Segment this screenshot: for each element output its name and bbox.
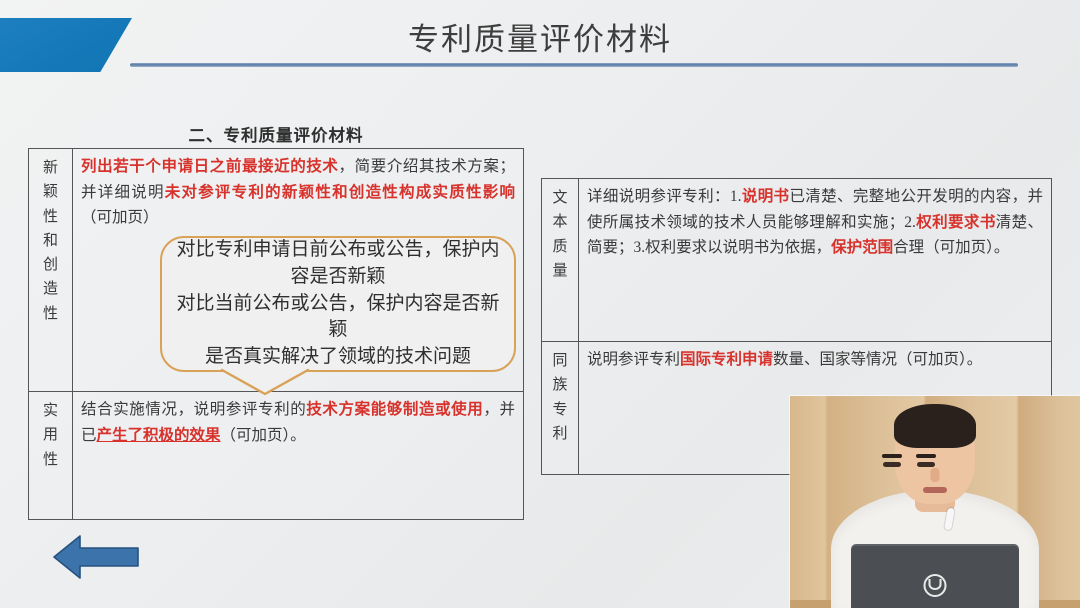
presenter-eye-right <box>917 462 935 467</box>
presenter-eyebrow-right <box>916 454 936 458</box>
label-char: 性 <box>43 448 58 472</box>
label-char: 质 <box>552 235 567 259</box>
label-char: 用 <box>43 423 58 447</box>
row-label-utility: 实 用 性 <box>29 392 73 519</box>
row-label-text-quality: 文 本 质 量 <box>542 179 579 341</box>
slide: 专利质量评价材料 二、专利质量评价材料 新 颖 性 和 创 造 性 列出若干个申… <box>0 0 1080 608</box>
text-segment: 合理（可加页）。 <box>893 239 1009 256</box>
presenter-figure <box>820 458 1050 608</box>
presenter-hair <box>894 404 976 448</box>
callout-line: 是否真实解决了领域的技术问题 <box>173 344 503 371</box>
presenter-video-overlay[interactable] <box>790 396 1080 608</box>
presenter-eye-left <box>883 462 901 467</box>
text-segment: 结合实施情况，说明参评专利的 <box>81 401 306 418</box>
presenter-mouth <box>923 487 947 493</box>
label-char: 造 <box>43 277 58 301</box>
label-char: 专 <box>552 398 567 422</box>
label-char: 性 <box>43 205 58 229</box>
header-divider-line <box>130 63 1018 67</box>
label-char: 性 <box>43 302 58 326</box>
label-char: 文 <box>552 186 567 210</box>
text-segment-highlight: 说明书 <box>741 188 789 205</box>
text-segment: （可加页）。 <box>221 427 306 444</box>
label-char: 和 <box>43 229 58 253</box>
laptop-logo-icon <box>924 574 947 597</box>
text-segment-highlight: 列出若干个申请日之前最接近的技术 <box>81 158 339 175</box>
text-segment: 说明参评专利 <box>587 351 680 368</box>
label-char: 族 <box>552 373 567 397</box>
label-char: 同 <box>552 349 567 373</box>
text-segment-highlight-underline: 产生了积极的效果 <box>97 427 221 444</box>
row-content-text-quality: 详细说明参评专利：1.说明书已清楚、完整地公开发明的内容，并使所属技术领域的技术… <box>579 179 1051 341</box>
row-label-novelty-inventiveness: 新 颖 性 和 创 造 性 <box>29 149 73 391</box>
left-arrow-icon <box>52 532 140 582</box>
row-label-patent-family: 同 族 专 利 <box>542 342 579 474</box>
table-row: 文 本 质 量 详细说明参评专利：1.说明书已清楚、完整地公开发明的内容，并使所… <box>542 179 1051 341</box>
text-segment: 数量、国家等情况（可加页）。 <box>773 351 982 368</box>
presenter-eyebrow-left <box>882 454 902 458</box>
text-segment-highlight: 技术方案能够制造或使用 <box>306 401 483 418</box>
row-content-utility: 结合实施情况，说明参评专利的技术方案能够制造或使用，并已产生了积极的效果（可加页… <box>73 392 523 519</box>
laptop <box>851 544 1019 608</box>
text-segment-highlight: 权利要求书 <box>916 214 996 231</box>
table-row: 实 用 性 结合实施情况，说明参评专利的技术方案能够制造或使用，并已产生了积极的… <box>29 391 523 519</box>
text-segment-highlight: 保护范围 <box>831 239 893 256</box>
label-char: 量 <box>552 259 567 283</box>
callout-line: 对比专利申请日前公布或公告，保护内容是否新颖 <box>173 237 503 291</box>
callout-line: 对比当前公布或公告，保护内容是否新颖 <box>173 291 503 345</box>
text-segment: （可加页） <box>81 209 159 226</box>
text-segment-highlight: 国际专利申请 <box>680 351 773 368</box>
text-segment-highlight: 未对参评专利的新颖性和创造性构成实质性影响 <box>165 184 515 201</box>
text-segment: 详细说明参评专利：1. <box>587 188 741 205</box>
section-title: 二、专利质量评价材料 <box>28 122 524 146</box>
label-char: 创 <box>43 253 58 277</box>
page-title: 专利质量评价材料 <box>0 14 1080 59</box>
label-char: 颖 <box>43 180 58 204</box>
label-char: 利 <box>552 422 567 446</box>
callout-box: 对比专利申请日前公布或公告，保护内容是否新颖 对比当前公布或公告，保护内容是否新… <box>160 236 516 372</box>
label-char: 本 <box>552 210 567 234</box>
label-char: 实 <box>43 399 58 423</box>
presenter-nose <box>931 468 940 482</box>
label-char: 新 <box>43 156 58 180</box>
